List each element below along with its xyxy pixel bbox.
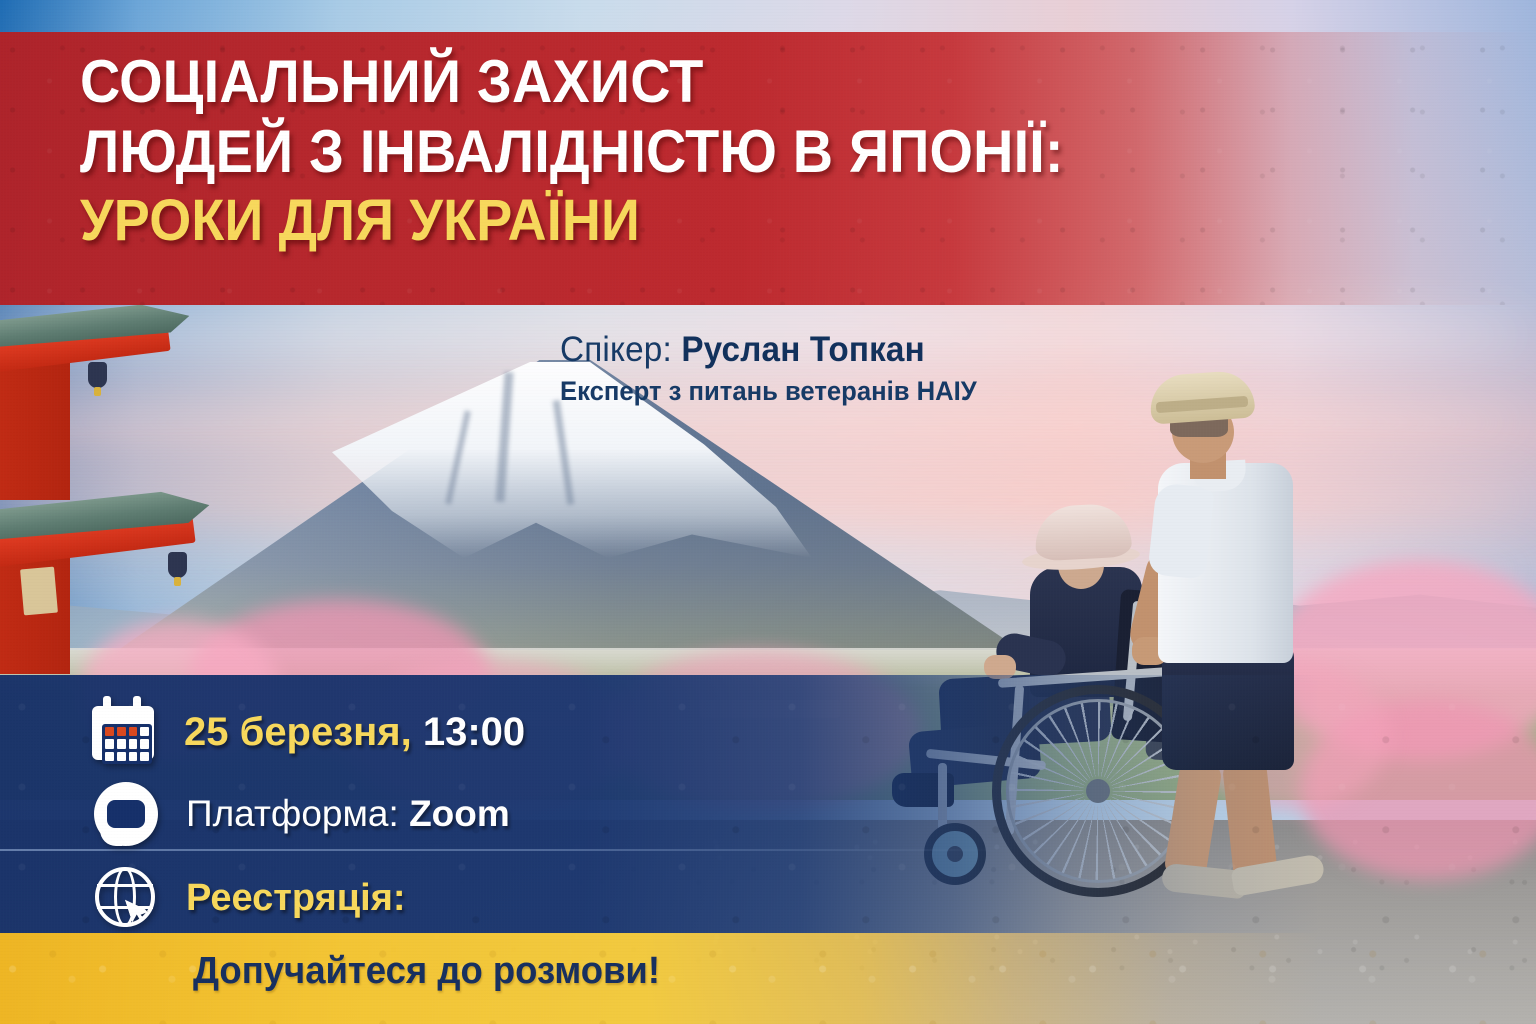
platform-label: Платформа: [186, 793, 409, 834]
page-title: СОЦІАЛЬНИЙ ЗАХИСТ ЛЮДЕЙ З ІНВАЛІДНІСТЮ В… [80, 52, 1260, 250]
platform-text-wrap: Платформа: Zoom [186, 793, 510, 835]
time-value: 13:00 [423, 710, 525, 754]
pagoda [0, 300, 250, 660]
speaker-role: Експерт з питань ветеранів НАІУ [560, 376, 1149, 407]
date-text: 25 березня, 13:00 [184, 710, 525, 754]
speaker-block: Спікер: Руслан Топкан Експерт з питань в… [560, 330, 1180, 407]
speaker-name-line: Спікер: Руслан Топкан [560, 330, 1149, 370]
title-line-1: СОЦІАЛЬНИЙ ЗАХИСТ [80, 52, 1177, 112]
seated-person-sun-hat [1034, 503, 1133, 562]
title-line-2: ЛЮДЕЙ З ІНВАЛІДНІСТЮ В ЯПОНІЇ: [80, 122, 1177, 182]
title-line-3: УРОКИ ДЛЯ УКРАЇНИ [80, 192, 1177, 250]
registration-label: Реестряція: [186, 877, 406, 919]
zoom-icon [90, 778, 162, 850]
globe-cursor-icon [90, 862, 162, 934]
info-row-date: 25 березня, 13:00 [88, 696, 525, 768]
pagoda-body [0, 360, 70, 500]
pagoda-plaque [20, 567, 58, 616]
calendar-grid [102, 724, 152, 764]
info-row-platform: Платформа: Zoom [90, 778, 510, 850]
speaker-name: Руслан Топкан [681, 330, 925, 369]
info-row-registration[interactable]: Реестряція: [90, 862, 406, 934]
calendar-icon [88, 696, 160, 768]
platform-text: Платформа: Zoom [186, 793, 510, 834]
speaker-label: Спікер: [560, 330, 681, 369]
pagoda-bell [168, 552, 187, 578]
call-to-action-text: Допучайтеся до розмови! [193, 950, 660, 993]
calendar-body [92, 706, 154, 760]
date-text-wrap: 25 березня, 13:00 [184, 710, 525, 755]
webinar-poster: СОЦІАЛЬНИЙ ЗАХИСТ ЛЮДЕЙ З ІНВАЛІДНІСТЮ В… [0, 0, 1536, 1024]
globe-latitude [97, 906, 153, 909]
registration-text-wrap: Реестряція: [186, 877, 406, 920]
zoom-icon-camera-cutout [107, 800, 145, 828]
platform-value: Zoom [409, 793, 510, 834]
date-value: 25 березня, [184, 710, 423, 754]
globe-latitude [97, 884, 153, 887]
caregiver-sleeve [1147, 482, 1214, 580]
pagoda-bell [88, 362, 107, 388]
